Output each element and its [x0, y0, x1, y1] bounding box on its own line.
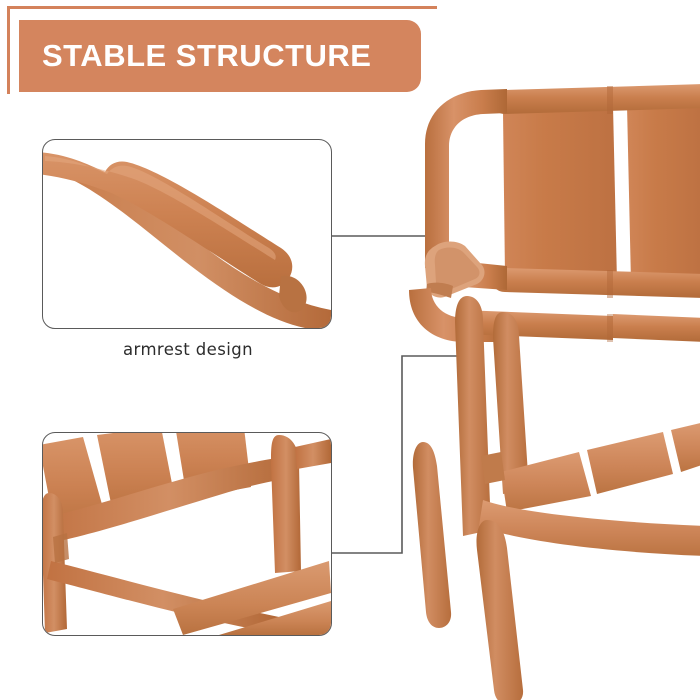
callout-back-hollow-frame [42, 432, 332, 636]
product-chair-illustration [395, 60, 700, 700]
backrest-slats [503, 101, 700, 286]
backrest-side-frame [425, 89, 507, 268]
callout-armrest-frame [42, 139, 332, 329]
seat-apron [479, 500, 700, 556]
frame-accent-line-vertical [7, 6, 10, 94]
header-banner: STABLE STRUCTURE [19, 20, 421, 92]
front-leg [476, 520, 523, 700]
frame-accent-line-horizontal [7, 6, 437, 9]
seat-support [481, 452, 505, 484]
back-hollow-closeup-icon [43, 433, 331, 635]
seat-slats [501, 422, 700, 512]
callout-armrest-label: armrest design [42, 340, 334, 359]
rear-leg [413, 442, 451, 628]
page-title: STABLE STRUCTURE [19, 38, 371, 74]
image-canvas: STABLE STRUCTURE [0, 0, 700, 700]
armrest-closeup-icon [43, 140, 331, 328]
armrest-tip [425, 242, 485, 299]
